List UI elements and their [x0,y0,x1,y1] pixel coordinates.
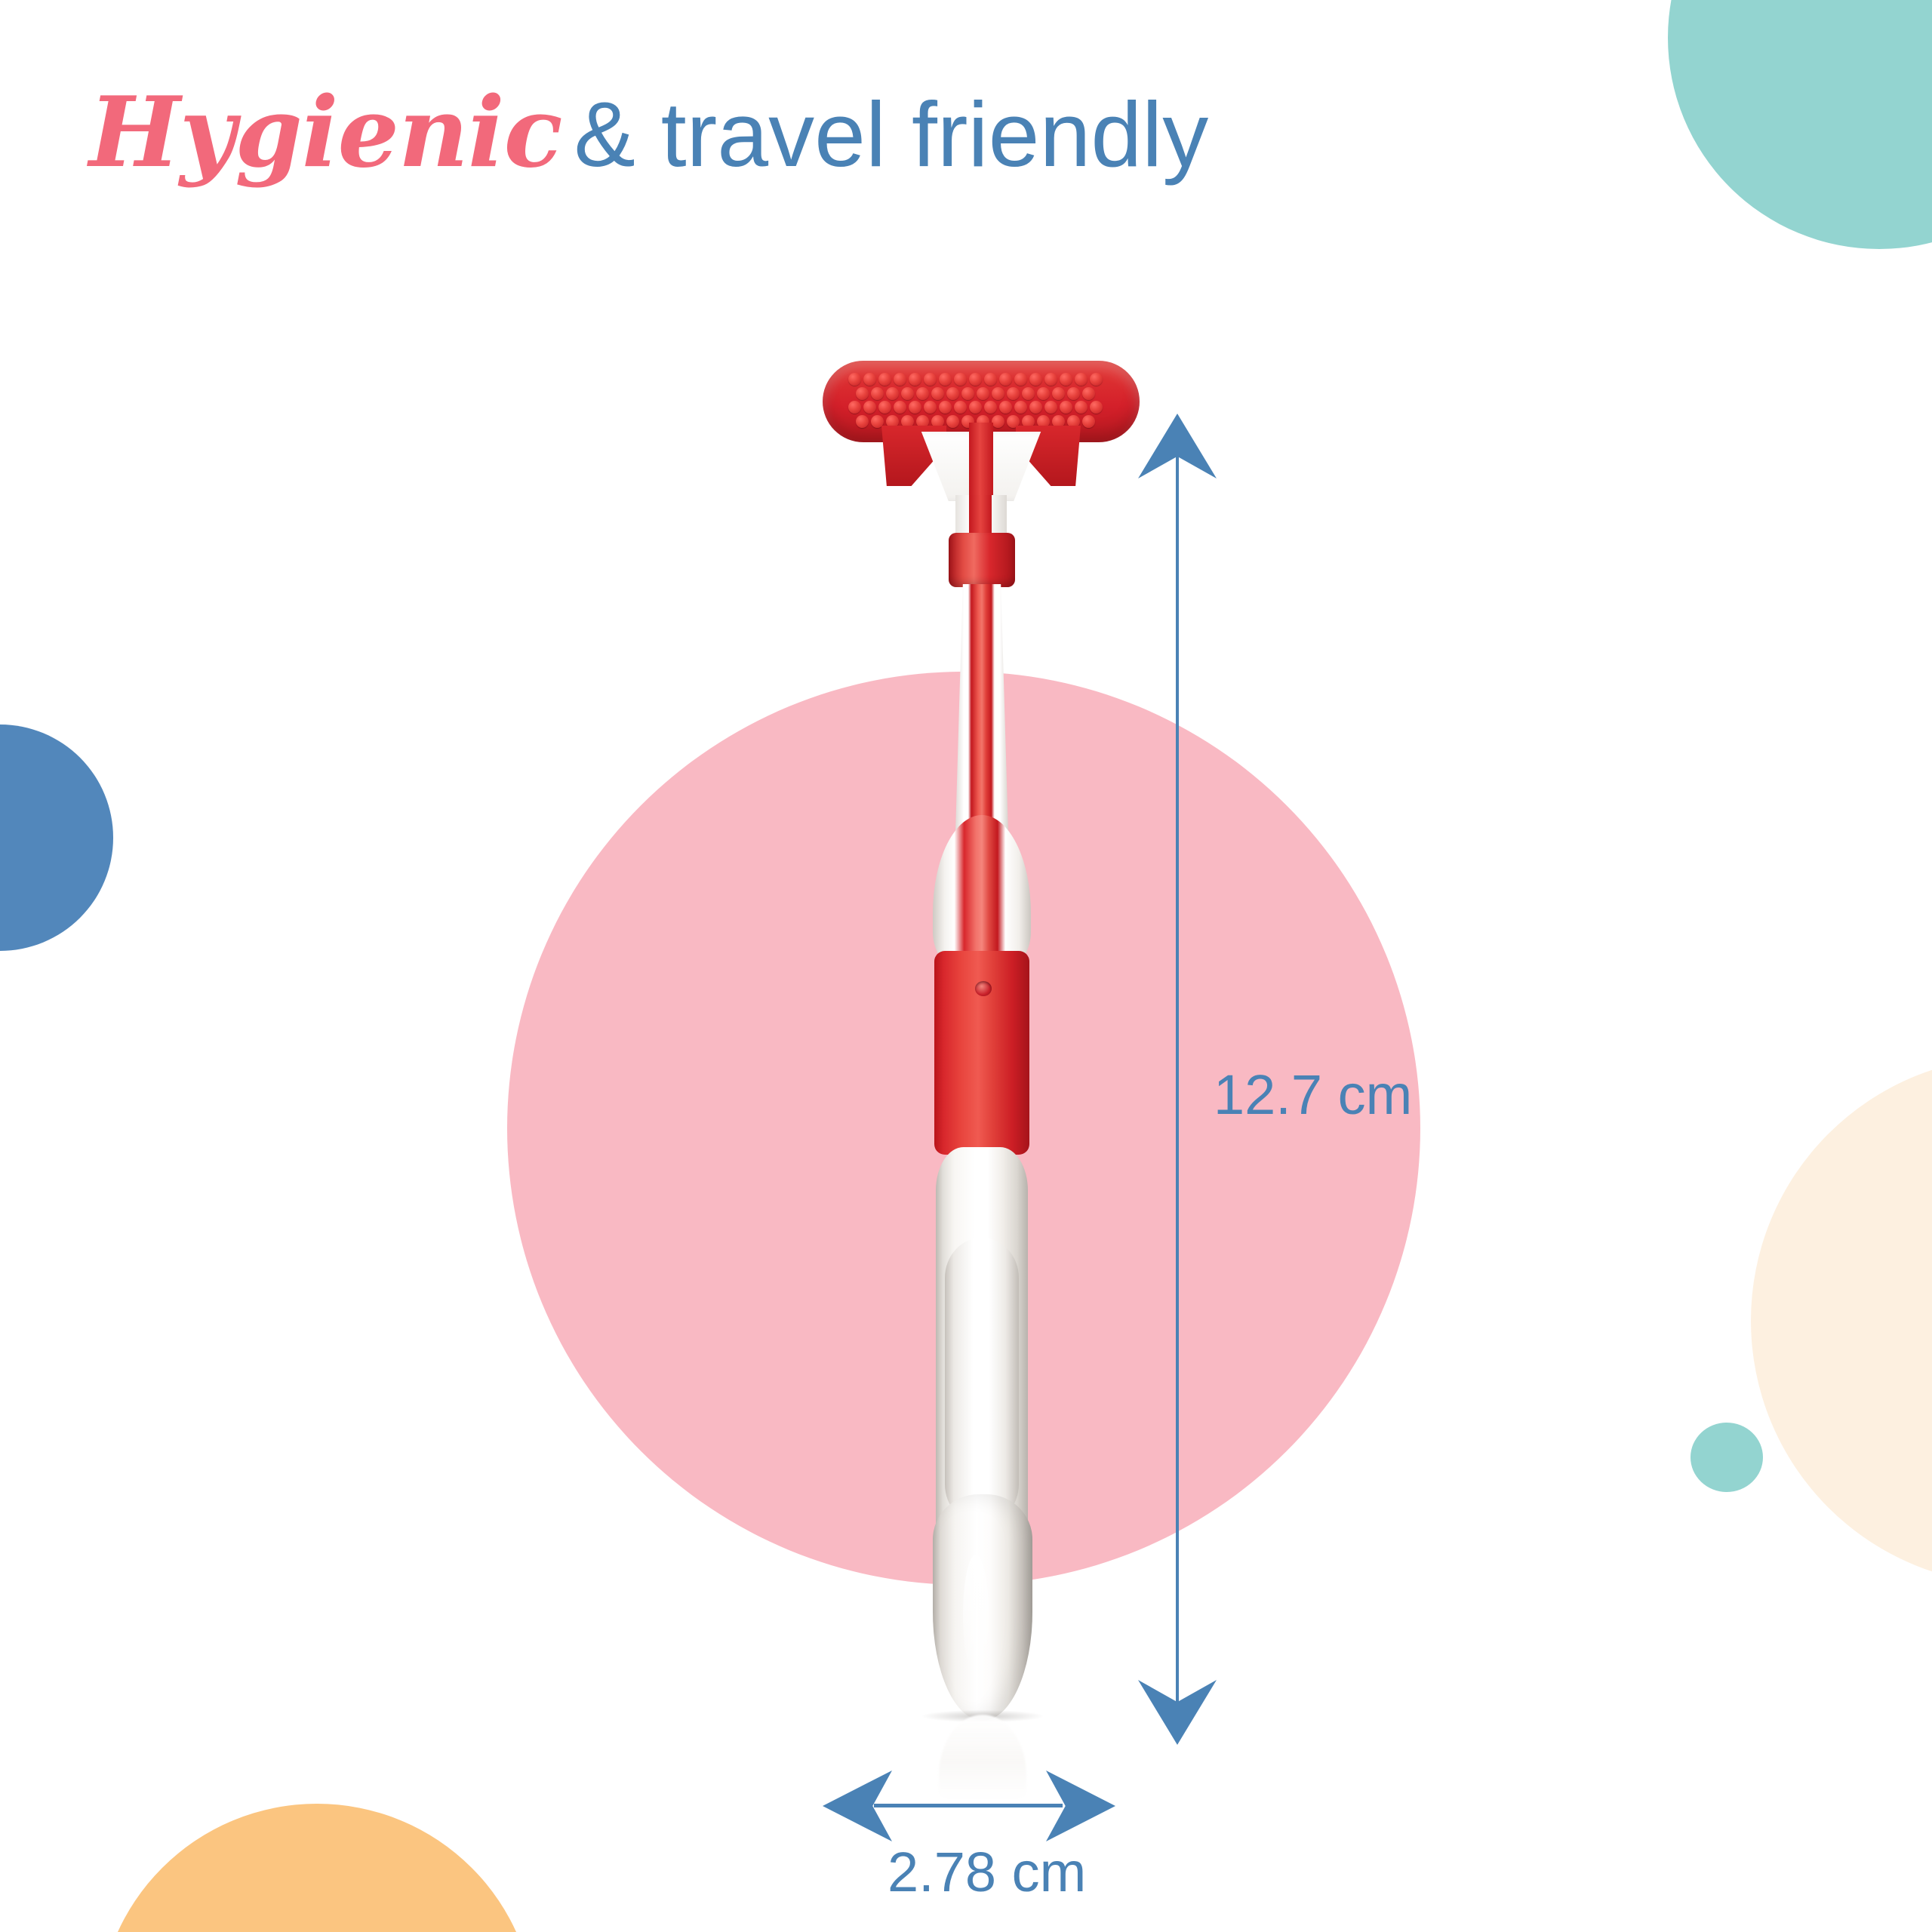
brush-nub [856,387,869,400]
brush-nub [984,373,997,386]
brush-nub [863,373,876,386]
brush-nub [856,415,869,428]
brush-nub [894,373,906,386]
brush-nub [1075,373,1088,386]
brush-nub [931,415,944,428]
grip-dimple [975,981,992,996]
brush-nub [1060,401,1072,414]
brush-nub [863,401,876,414]
brush-nub [901,387,914,400]
teal-circle-top-right-decoration [1668,0,1932,249]
orange-circle-bottom-left-decoration [98,1804,536,1932]
brush-nub [954,373,967,386]
brush-nub [984,401,997,414]
brush-nub [1067,387,1080,400]
dimension-line-horizontal [874,1804,1063,1807]
brush-nub [916,415,929,428]
brush-nub [999,373,1012,386]
brush-nub [1082,387,1095,400]
product-stem [955,584,1008,833]
brush-nub [1022,387,1035,400]
brush-nub [1082,415,1095,428]
dimension-line-vertical [1176,453,1179,1706]
brush-nub [992,415,1004,428]
brush-nub [1052,387,1065,400]
cream-circle-right-decoration [1751,1057,1932,1585]
handle-gloss-highlight [963,1555,989,1675]
brush-nub [977,387,989,400]
brush-nub [1022,415,1035,428]
brush-nub [1037,387,1050,400]
brush-nub [924,401,937,414]
brush-nub [916,387,929,400]
brush-nub [946,415,959,428]
brush-nub [1060,373,1072,386]
brush-nub [1052,415,1065,428]
handle-waist [945,1238,1019,1524]
brush-nub [946,387,959,400]
dimension-height-label: 12.7 cm [1214,1063,1412,1127]
brush-nub [939,401,952,414]
brush-nub [969,373,982,386]
grip-zone [934,951,1029,1155]
page-title: Hygienic& travel friendly [89,85,1208,181]
brush-nub [1090,401,1103,414]
headline-script-word: Hygienic [89,76,562,189]
brush-nub [1007,387,1020,400]
brush-nub [1075,401,1088,414]
brush-nub-row [848,373,1114,388]
brush-nub [1090,373,1103,386]
headline-rest-text: & travel friendly [574,83,1209,186]
brush-nub [969,401,982,414]
brush-nub [878,401,891,414]
brush-nub [894,401,906,414]
brush-nub [1067,415,1080,428]
brush-nub [909,401,921,414]
blue-circle-left-decoration [0,724,113,951]
brush-nub [1037,415,1050,428]
brush-nub [924,373,937,386]
brush-nub [1029,401,1042,414]
brush-nub [1029,373,1042,386]
brush-nubs-group [848,373,1114,429]
brush-nub [848,401,861,414]
brush-nub [1044,401,1057,414]
brush-nub [871,387,884,400]
infographic-canvas: Hygienic& travel friendly 12.7 cm 2.78 c… [0,0,1932,1932]
brush-nub [848,373,861,386]
brush-nub [1044,373,1057,386]
brush-nub [1014,373,1027,386]
red-collar-ring [949,533,1015,587]
brush-nub [992,387,1004,400]
product-reflection [939,1715,1026,1799]
brush-nub [1014,401,1027,414]
brush-nub [901,415,914,428]
brush-nub [886,415,899,428]
handle-upper-swell [933,815,1031,974]
brush-nub [886,387,899,400]
brush-nub-row [848,401,1114,416]
brush-nub [1007,415,1020,428]
brush-nub [878,373,891,386]
teal-circle-small-decoration [1690,1423,1763,1492]
neck-center-rib [969,495,992,536]
brush-nub-row [848,387,1121,402]
brush-nub [961,387,974,400]
brush-nub [954,401,967,414]
brush-nub [999,401,1012,414]
brush-nub [871,415,884,428]
product-image-tongue-cleaner [785,347,1177,1781]
brush-nub [931,387,944,400]
dimension-width-label: 2.78 cm [888,1840,1086,1904]
brush-nub [909,373,921,386]
brush-nub [939,373,952,386]
